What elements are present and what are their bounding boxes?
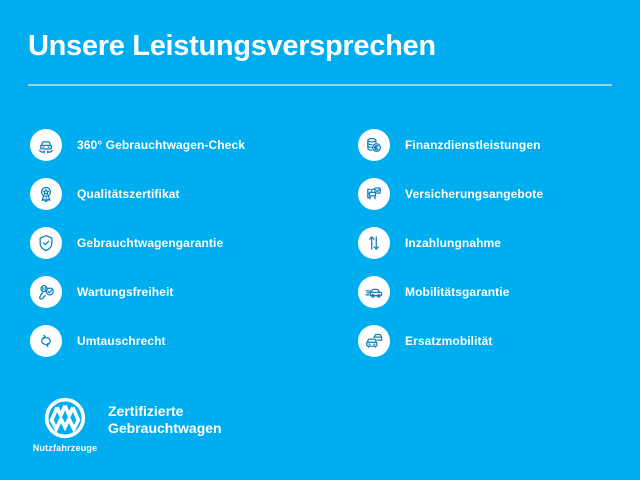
feature-label: Umtauschrecht [77,334,166,348]
wrench-check-icon [30,276,62,308]
footer: Nutzfahrzeuge Zertifizierte Gebrauchtwag… [30,396,222,453]
feature-item[interactable]: 360° Gebrauchtwagen-Check [30,120,330,169]
footer-text: Zertifizierte Gebrauchtwagen [108,403,222,437]
feature-item[interactable]: Mobilitätsgarantie [358,267,638,316]
vw-logo-subtitle: Nutzfahrzeuge [33,443,98,453]
feature-label: Ersatzmobilität [405,334,493,348]
feature-label: Wartungsfreiheit [77,285,174,299]
feature-item[interactable]: Finanzdienstleistungen [358,120,638,169]
feature-item[interactable]: Gebrauchtwagengarantie [30,218,330,267]
exchange-arrows-icon [30,325,62,357]
feature-label: Qualitätszertifikat [77,187,180,201]
car-motion-icon [358,276,390,308]
features-column-left: 360° Gebrauchtwagen-Check Qualitätszerti… [30,120,330,365]
feature-item[interactable]: Ersatzmobilität [358,316,638,365]
feature-label: 360° Gebrauchtwagen-Check [77,138,245,152]
promise-slide: Unsere Leistungsversprechen [0,0,640,480]
feature-label: Versicherungsangebote [405,187,543,201]
page-title: Unsere Leistungsversprechen [28,30,436,63]
vw-brand-block: Nutzfahrzeuge [30,396,100,453]
feature-item[interactable]: Umtauschrecht [30,316,330,365]
coins-euro-icon [358,129,390,161]
feature-label: Finanzdienstleistungen [405,138,541,152]
feature-item[interactable]: Qualitätszertifikat [30,169,330,218]
feature-label: Mobilitätsgarantie [405,285,509,299]
quality-seal-icon [30,178,62,210]
two-cars-icon [358,325,390,357]
car-checklist-icon [358,178,390,210]
feature-item[interactable]: Inzahlungnahme [358,218,638,267]
feature-item[interactable]: Versicherungsangebote [358,169,638,218]
vw-logo-icon [43,396,87,440]
footer-text-line2: Gebrauchtwagen [108,420,222,437]
features-column-right: Finanzdienstleistungen [358,120,638,365]
car-360-check-icon [30,129,62,161]
feature-item[interactable]: Wartungsfreiheit [30,267,330,316]
shield-check-icon [30,227,62,259]
title-divider [28,84,612,86]
feature-label: Inzahlungnahme [405,236,501,250]
up-down-arrows-icon [358,227,390,259]
feature-label: Gebrauchtwagengarantie [77,236,223,250]
footer-text-line1: Zertifizierte [108,403,222,420]
